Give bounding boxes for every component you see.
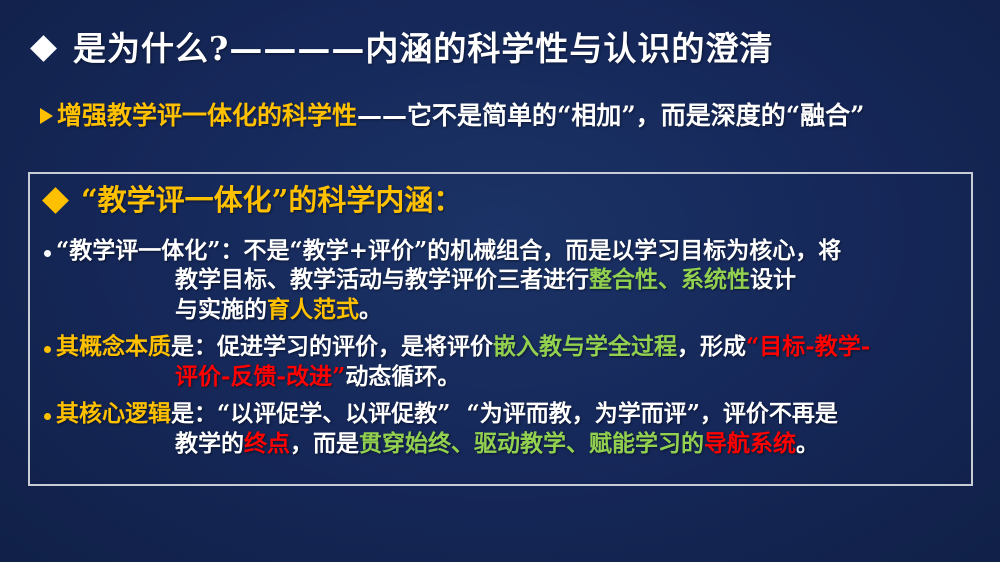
bullet1-line2: 教学目标、教学活动与教学评价三者进行整合性、系统性设计 xyxy=(56,265,841,294)
slide-canvas: 是为什么?————内涵的科学性与认识的澄清 增强教学评一体化的科学性——它不是简… xyxy=(0,0,1000,562)
panel-heading-text: “教学评一体化”的科学内涵： xyxy=(81,186,462,215)
page-title: 是为什么?————内涵的科学性与认识的澄清 xyxy=(73,32,773,65)
bullet3-line2-green: 贯穿始终、驱动教学、赋能学习的 xyxy=(359,430,704,457)
bullet-list: “教学评一体化”：不是“教学+评价”的机械组合，而是以学习目标为核心，将教学目标… xyxy=(44,236,963,466)
bullet1-line2-green: 整合性、系统性 xyxy=(589,266,750,293)
bullet3-line2-white: 教学的 xyxy=(175,430,244,457)
subtitle-text: 增强教学评一体化的科学性——它不是简单的“相加”，而是深度的“融合” xyxy=(57,103,865,128)
bullet2-line1-red: “目标-教学- xyxy=(746,333,870,360)
bullet3-line2-white-2: ，而是 xyxy=(290,430,359,457)
bullet1-line3: 与实施的育人范式。 xyxy=(56,295,841,324)
bullet3-line1-white: 是：“以评促学、以评促教” “为评而教，为学而评”，评价不再是 xyxy=(171,400,838,427)
bullet1-line2-white-2: 设计 xyxy=(750,266,796,293)
bullet1-line3-white: 与实施的 xyxy=(175,296,267,323)
bullet3-line1-gold: 其核心逻辑 xyxy=(56,400,171,427)
list-item-text: “教学评一体化”：不是“教学+评价”的机械组合，而是以学习目标为核心，将教学目标… xyxy=(56,236,841,324)
bullet1-line3-white-2: 。 xyxy=(359,296,382,323)
bullet2-line1-green: 嵌入教与学全过程 xyxy=(493,333,677,360)
arrow-right-icon xyxy=(40,108,53,124)
subtitle-highlight: 增强教学评一体化的科学性 xyxy=(57,101,357,130)
list-item: 其核心逻辑是：“以评促学、以评促教” “为评而教，为学而评”，评价不再是教学的终… xyxy=(44,399,963,458)
slide-title: 是为什么?————内涵的科学性与认识的澄清 xyxy=(34,32,773,65)
bullet2-line2-white: 动态循环。 xyxy=(345,363,460,390)
bullet2-line1-white-2: ，形成 xyxy=(677,333,746,360)
bullet3-line2-red-2: 导航系统 xyxy=(704,430,796,457)
list-item: “教学评一体化”：不是“教学+评价”的机械组合，而是以学习目标为核心，将教学目标… xyxy=(44,236,963,324)
diamond-icon xyxy=(42,187,69,214)
bullet3-line1: 其核心逻辑是：“以评促学、以评促教” “为评而教，为学而评”，评价不再是 xyxy=(56,399,838,428)
content-panel: “教学评一体化”的科学内涵： “教学评一体化”：不是“教学+评价”的机械组合，而… xyxy=(28,172,973,486)
list-item-text: 其概念本质是：促进学习的评价，是将评价嵌入教与学全过程，形成“目标-教学-评价-… xyxy=(56,332,870,391)
bullet1-line2-white: 教学目标、教学活动与教学评价三者进行 xyxy=(175,266,589,293)
bullet2-line1: 其概念本质是：促进学习的评价，是将评价嵌入教与学全过程，形成“目标-教学- xyxy=(56,332,870,361)
bullet-dot-icon xyxy=(44,346,51,353)
bullet3-line2-red: 终点 xyxy=(244,430,290,457)
bullet2-line2-red: 评价-反馈-改进” xyxy=(175,363,345,390)
bullet3-line2-white-3: 。 xyxy=(796,430,819,457)
bullet-dot-icon xyxy=(44,413,51,420)
bullet3-line2: 教学的终点，而是贯穿始终、驱动教学、赋能学习的导航系统。 xyxy=(56,429,838,458)
subtitle-rest: ——它不是简单的“相加”，而是深度的“融合” xyxy=(357,101,865,130)
bullet2-line1-white: 是：促进学习的评价，是将评价 xyxy=(171,333,493,360)
subtitle-line: 增强教学评一体化的科学性——它不是简单的“相加”，而是深度的“融合” xyxy=(40,103,865,128)
bullet1-line3-gold: 育人范式 xyxy=(267,296,359,323)
bullet2-line2: 评价-反馈-改进”动态循环。 xyxy=(56,362,870,391)
diamond-icon xyxy=(30,35,57,62)
bullet-dot-icon xyxy=(44,250,51,257)
bullet2-line1-gold: 其概念本质 xyxy=(56,333,171,360)
list-item: 其概念本质是：促进学习的评价，是将评价嵌入教与学全过程，形成“目标-教学-评价-… xyxy=(44,332,963,391)
bullet1-line1-white: “教学评一体化”：不是“教学+评价”的机械组合，而是以学习目标为核心，将 xyxy=(56,236,841,265)
panel-heading: “教学评一体化”的科学内涵： xyxy=(46,186,462,215)
list-item-text: 其核心逻辑是：“以评促学、以评促教” “为评而教，为学而评”，评价不再是教学的终… xyxy=(56,399,838,458)
